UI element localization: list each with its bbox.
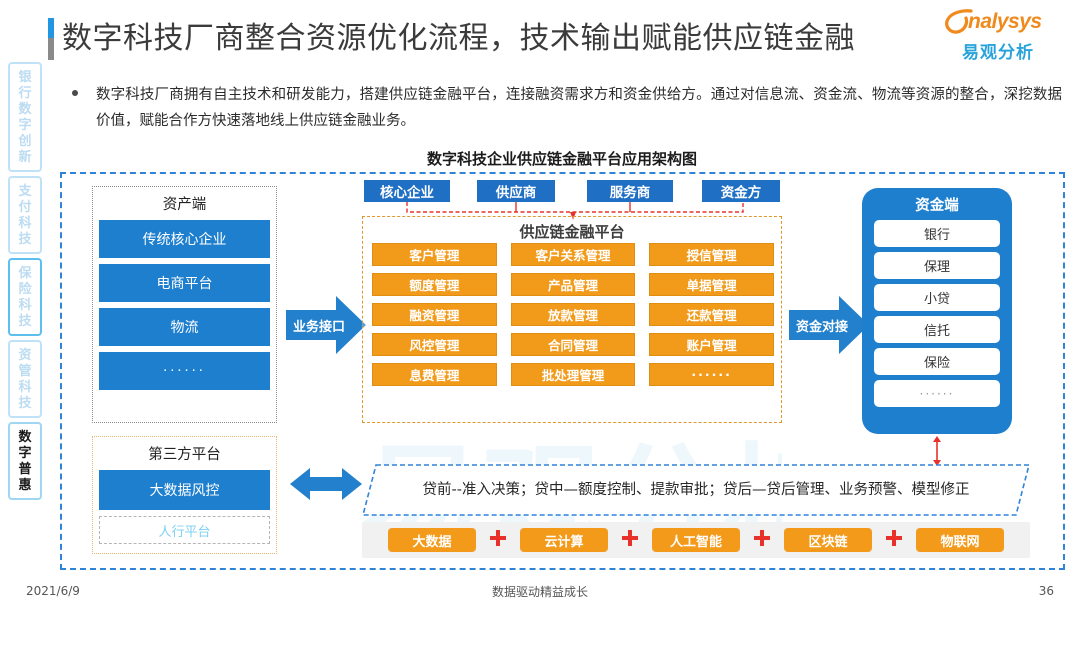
module-product-mgmt[interactable]: 产品管理 — [511, 273, 636, 296]
fund-side-title: 资金端 — [874, 194, 1000, 215]
fund-side-box: 资金端 银行 保理 小贷 信托 保险 ······ — [862, 188, 1012, 434]
fund-item-trust[interactable]: 信托 — [874, 316, 1000, 343]
logo-chinese-name: 易观分析 — [938, 38, 1058, 63]
module-crm[interactable]: 客户关系管理 — [511, 243, 636, 266]
role-supplier[interactable]: 供应商 — [477, 180, 555, 202]
logo-text: nalysys — [968, 10, 1042, 34]
sidebar-item-inclusive-finance[interactable]: 数字普惠 — [8, 422, 42, 500]
asset-side-box: 资产端 传统核心企业 电商平台 物流 ······ — [92, 186, 277, 423]
plus-icon — [476, 528, 520, 553]
module-financing-mgmt[interactable]: 融资管理 — [372, 303, 497, 326]
bidirectional-arrow-icon — [290, 464, 362, 504]
page-footer: 2021/6/9 数据驱动精益成长 36 — [0, 580, 1080, 602]
footer-slogan: 数据驱动精益成长 — [0, 583, 1080, 600]
business-interface-arrow: 业务接口 — [286, 296, 366, 354]
fund-docking-label: 资金对接 — [789, 296, 869, 354]
logo-wordmark: nalysys — [938, 8, 1058, 36]
third-party-bigdata-risk[interactable]: 大数据风控 — [99, 470, 270, 510]
page-title: 数字科技厂商整合资源优化流程，技术输出赋能供应链金融 — [62, 18, 855, 60]
sidebar-item-bank[interactable]: 银行数字创新 — [8, 62, 42, 172]
plus-icon — [608, 528, 652, 553]
sidebar-item-payment[interactable]: 支付科技 — [8, 176, 42, 254]
fund-item-factoring[interactable]: 保理 — [874, 252, 1000, 279]
module-customer-mgmt[interactable]: 客户管理 — [372, 243, 497, 266]
loan-lifecycle-text: 贷前--准入决策；贷中—额度控制、提款审批；贷后—贷后管理、业务预警、模型修正 — [362, 464, 1030, 516]
module-fee-mgmt[interactable]: 息费管理 — [372, 363, 497, 386]
page-header: 数字科技厂商整合资源优化流程，技术输出赋能供应链金融 nalysys 易观分析 — [0, 0, 1080, 72]
module-batch-mgmt[interactable]: 批处理管理 — [511, 363, 636, 386]
asset-side-title: 资产端 — [99, 193, 270, 214]
figure-caption: 数字科技企业供应链金融平台应用架构图 — [62, 148, 1062, 169]
fund-item-insurance[interactable]: 保险 — [874, 348, 1000, 375]
fund-item-more[interactable]: ······ — [874, 380, 1000, 407]
third-party-title: 第三方平台 — [99, 443, 270, 464]
sidebar-item-label: 支付科技 — [12, 183, 38, 247]
third-party-pboc-platform[interactable]: 人行平台 — [99, 516, 270, 544]
loan-lifecycle-band: 贷前--准入决策；贷中—额度控制、提款审批；贷后—贷后管理、业务预警、模型修正 — [362, 464, 1030, 516]
module-account-mgmt[interactable]: 账户管理 — [649, 333, 774, 356]
footer-page-number: 36 — [1039, 584, 1054, 598]
sidebar-item-label: 数字普惠 — [12, 429, 38, 493]
tech-stack-band: 大数据 云计算 人工智能 区块链 物联网 — [362, 522, 1030, 558]
tech-ai[interactable]: 人工智能 — [652, 528, 740, 552]
role-funder[interactable]: 资金方 — [702, 180, 780, 202]
tech-bigdata[interactable]: 大数据 — [388, 528, 476, 552]
module-credit-mgmt[interactable]: 授信管理 — [649, 243, 774, 266]
platform-module-grid: 客户管理 客户关系管理 授信管理 额度管理 产品管理 单据管理 融资管理 放款管… — [372, 243, 774, 386]
sidebar-item-asset-mgmt[interactable]: 资管科技 — [8, 340, 42, 418]
module-contract-mgmt[interactable]: 合同管理 — [511, 333, 636, 356]
business-interface-label: 业务接口 — [286, 296, 366, 354]
architecture-diagram: 易观分析 资产端 传统核心企业 电商平台 物流 ······ 第三方平台 大数据… — [60, 172, 1065, 570]
asset-item-traditional-core[interactable]: 传统核心企业 — [99, 220, 270, 258]
sidebar-item-label: 资管科技 — [12, 347, 38, 411]
sidebar-item-insurance[interactable]: 保险科技 — [8, 258, 42, 336]
module-repayment-mgmt[interactable]: 还款管理 — [649, 303, 774, 326]
supply-chain-platform-box: 供应链金融平台 客户管理 客户关系管理 授信管理 额度管理 产品管理 单据管理 … — [362, 216, 782, 423]
module-more[interactable]: ······ — [649, 363, 774, 386]
fund-item-bank[interactable]: 银行 — [874, 220, 1000, 247]
sidebar[interactable]: 银行数字创新 支付科技 保险科技 资管科技 数字普惠 — [8, 62, 48, 504]
third-party-box: 第三方平台 大数据风控 人行平台 — [92, 436, 277, 554]
tech-cloud[interactable]: 云计算 — [520, 528, 608, 552]
asset-item-logistics[interactable]: 物流 — [99, 308, 270, 346]
plus-icon — [872, 528, 916, 553]
asset-item-more[interactable]: ······ — [99, 352, 270, 390]
lead-paragraph: 数字科技厂商拥有自主技术和研发能力，搭建供应链金融平台，连接融资需求方和资金供给… — [96, 82, 1062, 134]
fund-item-microloan[interactable]: 小贷 — [874, 284, 1000, 311]
title-accent-bar — [48, 18, 54, 60]
role-core-enterprise[interactable]: 核心企业 — [364, 180, 450, 202]
lead-section: 数字科技厂商拥有自主技术和研发能力，搭建供应链金融平台，连接融资需求方和资金供给… — [62, 82, 1062, 134]
role-service-provider[interactable]: 服务商 — [587, 180, 673, 202]
module-document-mgmt[interactable]: 单据管理 — [649, 273, 774, 296]
sidebar-item-label: 银行数字创新 — [12, 69, 38, 165]
module-disbursement-mgmt[interactable]: 放款管理 — [511, 303, 636, 326]
asset-item-ecommerce[interactable]: 电商平台 — [99, 264, 270, 302]
platform-title: 供应链金融平台 — [363, 221, 781, 242]
bullet-icon — [72, 90, 78, 96]
module-risk-mgmt[interactable]: 风控管理 — [372, 333, 497, 356]
fund-docking-arrow: 资金对接 — [789, 296, 869, 354]
analysys-logo: nalysys 易观分析 — [938, 8, 1058, 64]
plus-icon — [740, 528, 784, 553]
module-quota-mgmt[interactable]: 额度管理 — [372, 273, 497, 296]
red-vertical-double-arrow-icon — [930, 436, 944, 466]
tech-blockchain[interactable]: 区块链 — [784, 528, 872, 552]
sidebar-item-label: 保险科技 — [12, 265, 38, 329]
tech-iot[interactable]: 物联网 — [916, 528, 1004, 552]
